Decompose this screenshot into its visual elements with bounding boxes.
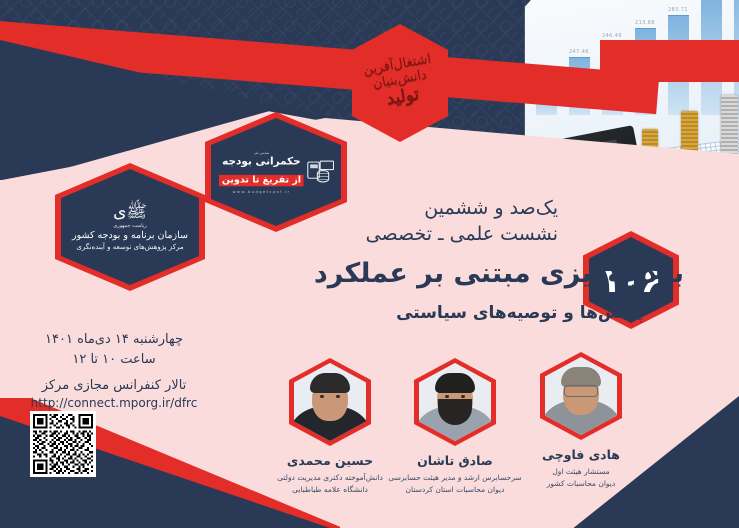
avatar: سخنران <box>289 358 371 446</box>
poster-canvas: 170.35 247.46 246.46 213.88 283.71 316.8… <box>0 0 739 528</box>
portrait-hadi-favochi <box>545 357 617 435</box>
event-info: چهارشنبه ۱۴ دی‌ماه ۱۴۰۱ ساعت ۱۰ تا ۱۲ تا… <box>14 330 214 410</box>
title-kicker-line-2: نشست علمی ـ تخصصی <box>366 222 558 248</box>
title-kicker-line-1: یک‌صد و ششمین <box>366 196 558 222</box>
title-kicker: یک‌صد و ششمین نشست علمی ـ تخصصی <box>366 196 558 247</box>
event-venue: تالار کنفرانس مجازی مرکز <box>14 378 214 393</box>
event-time: ساعت ۱۰ تا ۱۲ <box>14 350 214 370</box>
speaker-role-tag: سخنران <box>271 346 310 378</box>
speaker-role-line-2: دیوان محاسبات کشور <box>506 478 656 490</box>
speaker-role-tag: سخنران <box>396 346 435 378</box>
avatar: مدیر علمی <box>540 352 622 440</box>
iran-emblem-icon: ﷺی <box>113 204 147 221</box>
conference-badge-title-2: از تفریغ تا تدوین <box>219 174 304 186</box>
page-subtitle: چالش‌ها و توصیه‌های سیاستی <box>396 303 647 323</box>
event-date: چهارشنبه ۱۴ دی‌ماه ۱۴۰۱ <box>14 330 214 350</box>
glasses-icon <box>564 385 598 397</box>
red-sash-right-stub <box>600 40 739 82</box>
qr-code[interactable] <box>30 411 96 477</box>
conference-badge-title-1: حکمرانی بودجه <box>219 155 304 168</box>
org-line-0: ریاست جمهوری <box>113 223 146 229</box>
page-title: بودجه‌ریزی مبتنی بر عملکرد <box>314 258 684 289</box>
event-url[interactable]: http://connect.mporg.ir/dfrc <box>14 396 214 410</box>
org-line-2: مرکز پژوهش‌های توسعه و آینده‌نگری <box>76 243 183 251</box>
portrait-hossein-mohammadi <box>294 363 366 441</box>
portrait-sadegh-tashan <box>419 363 491 441</box>
speaker-name: هادی فاوچی <box>506 447 656 462</box>
conference-badge-url: www.budgetconf.ir <box>219 189 304 194</box>
speaker-role-line-1: مستشار هیئت اول <box>506 466 656 478</box>
budget-calculator-coins-icon <box>308 160 333 185</box>
speaker-card: مدیر علمی هادی فاوچی مستشار هیئت اول دیو… <box>506 352 656 489</box>
org-line-1: سازمان برنامه و بودجه کشور <box>72 230 188 241</box>
avatar: سخنران <box>414 358 496 446</box>
